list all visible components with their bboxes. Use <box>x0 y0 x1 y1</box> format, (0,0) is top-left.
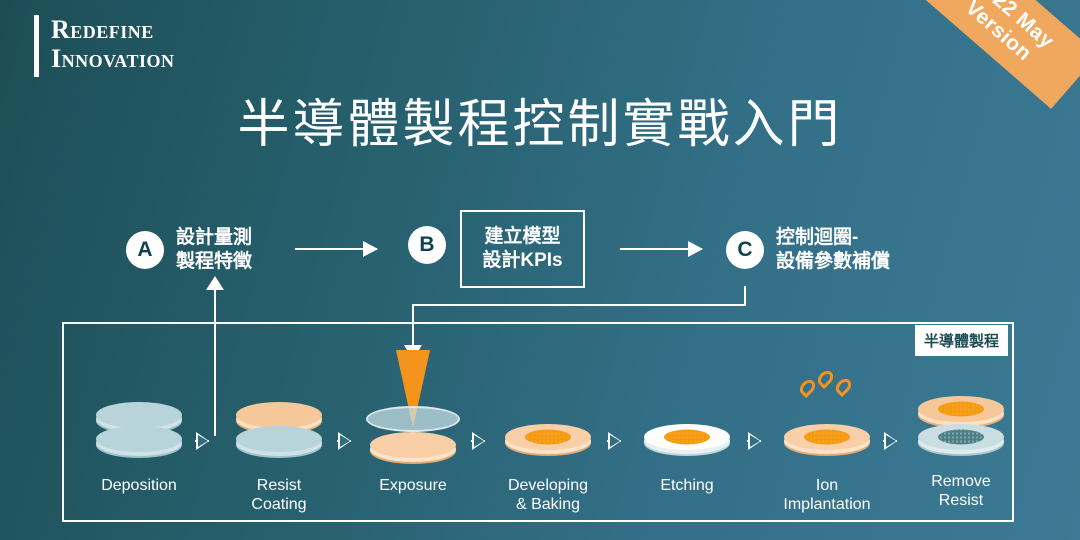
wafer-disc-top <box>96 402 182 428</box>
wafer-disc <box>918 424 1004 450</box>
process-step-label: Deposition <box>74 476 204 495</box>
flow-step-b[interactable]: B <box>408 226 446 264</box>
wafer-disc <box>784 424 870 450</box>
wafer-disc <box>505 424 591 450</box>
process-step-exposure[interactable]: Exposure <box>348 398 478 495</box>
process-step-label: Remove Resist <box>896 472 1026 510</box>
process-step-etching[interactable]: Etching <box>622 398 752 495</box>
pattern-grid-icon <box>664 430 710 445</box>
photomask-disc <box>366 406 460 432</box>
flow-box-b[interactable]: 建立模型 設計KPIs <box>460 210 585 288</box>
resist-layer <box>236 402 322 428</box>
pattern-grid-icon <box>525 430 571 445</box>
process-step-label: Etching <box>622 476 752 495</box>
logo-line-1: Redefine <box>51 16 174 44</box>
process-step-resist-coating[interactable]: Resist Coating <box>214 398 344 514</box>
flow-step-a[interactable]: A 設計量測 製程特徵 <box>126 226 252 275</box>
feedback-arrowhead-up-icon <box>206 276 224 290</box>
process-step-label: Exposure <box>348 476 478 495</box>
flow-label-c: 控制迴圈- 設備參數補償 <box>776 226 890 275</box>
wafer-disc-bottom <box>96 426 182 452</box>
wafer-disc <box>370 432 456 458</box>
wafer-disc <box>644 424 730 450</box>
flow-badge-a: A <box>126 231 164 269</box>
resist-coating-art <box>214 398 344 470</box>
ion-implantation-art <box>762 398 892 470</box>
flow-label-b: 建立模型 設計KPIs <box>482 225 562 274</box>
resist-layer <box>918 396 1004 422</box>
droplet-icon <box>833 376 854 397</box>
process-step-developing-baking[interactable]: Developing & Baking <box>483 398 613 514</box>
process-step-deposition[interactable]: Deposition <box>74 398 204 495</box>
flow-arrow-a-to-b <box>295 248 377 250</box>
process-step-label: Resist Coating <box>214 476 344 514</box>
flow-label-a: 設計量測 製程特徵 <box>176 226 252 275</box>
process-step-label: Developing & Baking <box>483 476 613 514</box>
process-arrow-5-icon <box>748 432 761 450</box>
pattern-grid-icon <box>938 402 984 417</box>
flow-step-c[interactable]: C 控制迴圈- 設備參數補償 <box>726 226 890 275</box>
flow-badge-c: C <box>726 231 764 269</box>
page-title: 半導體製程控制實戰入門 <box>0 82 1080 157</box>
control-wire-horizontal <box>412 304 746 306</box>
logo-wordmark: Redefine Innovation <box>51 12 174 77</box>
process-container-label: 半導體製程 <box>915 325 1008 356</box>
deposition-art <box>74 398 204 470</box>
remove-resist-art <box>896 394 1026 466</box>
etching-art <box>622 398 752 470</box>
process-arrow-1-icon <box>196 432 209 450</box>
process-step-ion-implantation[interactable]: Ion Implantation <box>762 398 892 514</box>
process-step-remove-resist[interactable]: Remove Resist <box>896 394 1026 510</box>
pattern-grid-icon <box>938 430 984 445</box>
flow-arrow-b-to-c <box>620 248 702 250</box>
wafer-disc <box>236 426 322 452</box>
droplet-icon <box>797 377 818 398</box>
exposure-art <box>348 398 478 470</box>
droplet-icon <box>815 368 836 389</box>
brand-logo: Redefine Innovation <box>34 12 174 77</box>
logo-line-2: Innovation <box>51 45 174 73</box>
process-step-label: Ion Implantation <box>762 476 892 514</box>
slide-canvas: Redefine Innovation 2022 May Version 半導體… <box>0 0 1080 540</box>
pattern-grid-icon <box>804 430 850 445</box>
process-arrow-4-icon <box>608 432 621 450</box>
developing-baking-art <box>483 398 613 470</box>
flow-badge-b: B <box>408 226 446 264</box>
ion-droplets-icon <box>799 370 855 398</box>
control-wire-from-c <box>744 286 746 306</box>
logo-bar-icon <box>34 15 39 77</box>
